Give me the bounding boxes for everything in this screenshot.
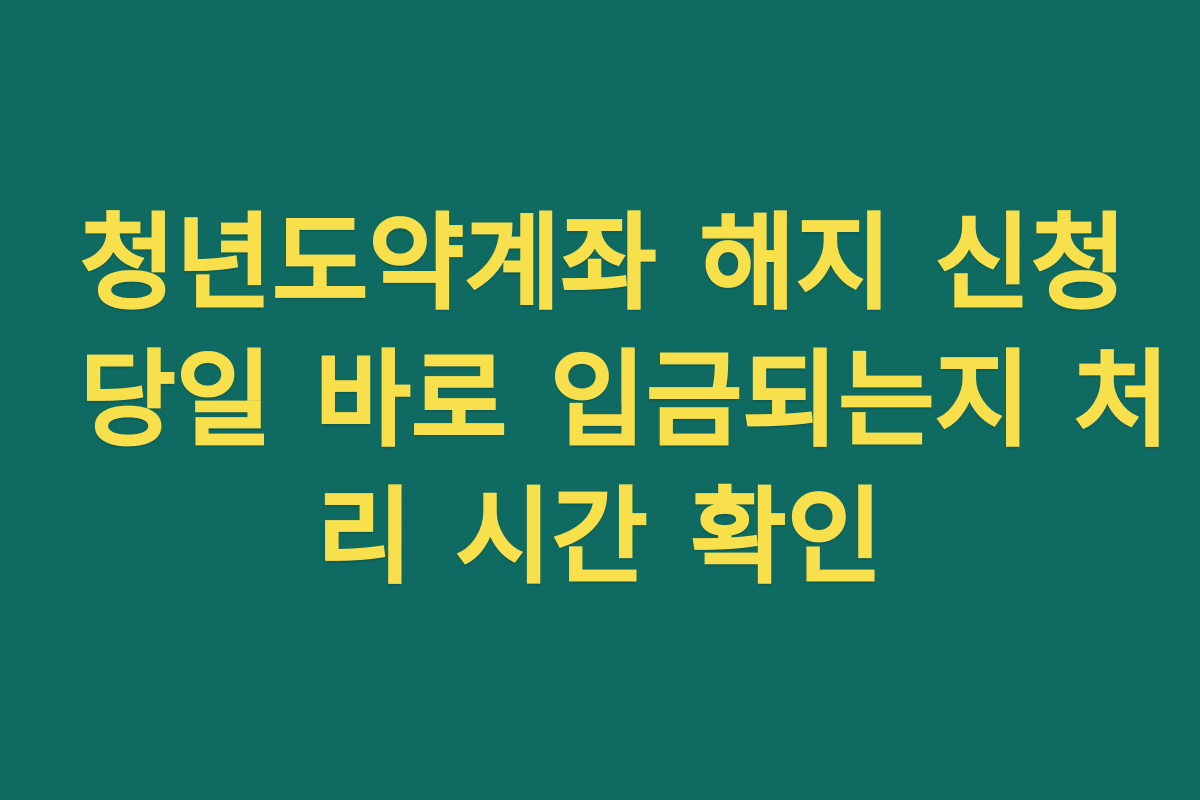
headline-line-1: 청년도약계좌 해지 신청	[80, 195, 1120, 332]
banner-canvas: 청년도약계좌 해지 신청 당일 바로 입금되는지 처 리 시간 확인	[0, 0, 1200, 800]
banner-headline: 청년도약계좌 해지 신청 당일 바로 입금되는지 처 리 시간 확인	[80, 195, 1120, 606]
headline-line-3: 리 시간 확인	[80, 469, 1120, 606]
headline-line-2: 당일 바로 입금되는지 처	[80, 332, 1120, 469]
